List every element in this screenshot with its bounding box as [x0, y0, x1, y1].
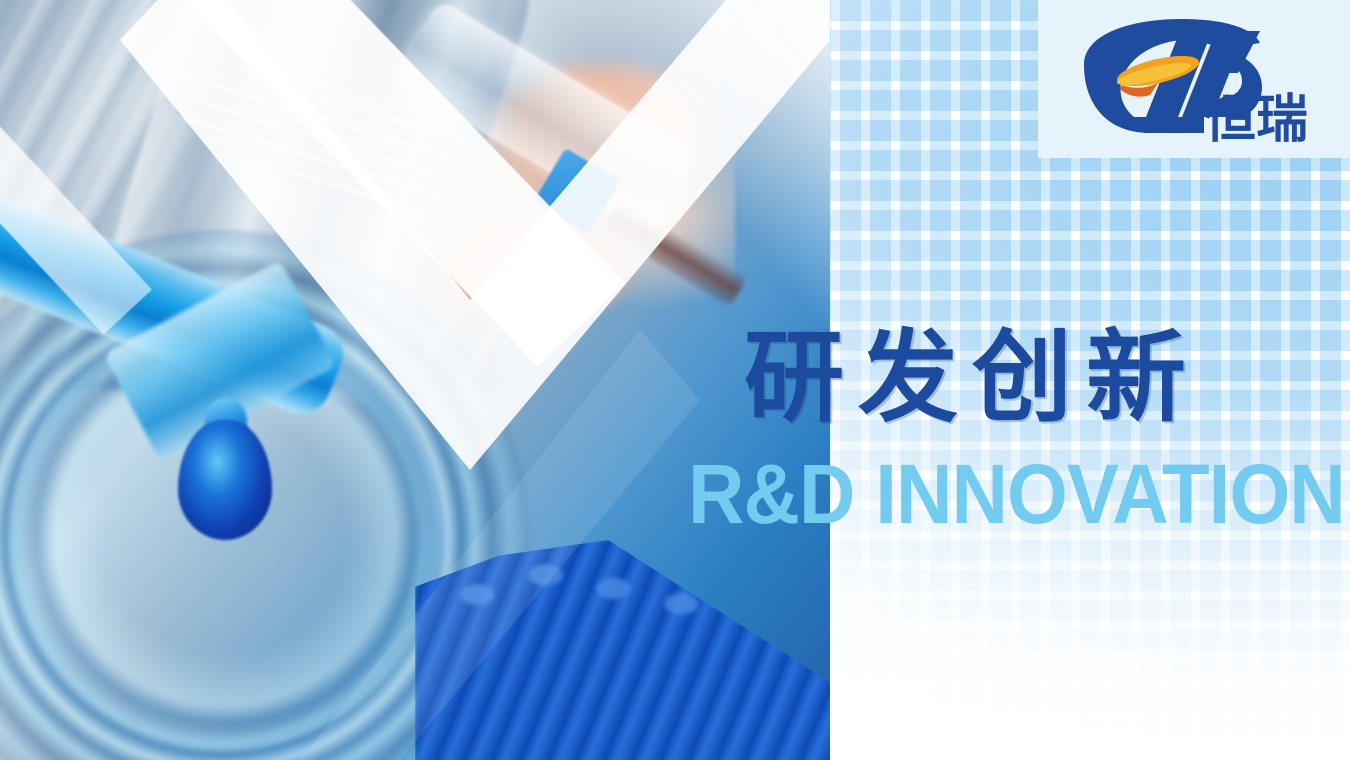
lab-photo-montage [0, 0, 830, 760]
headline-chinese: 研发创新 [744, 324, 1344, 432]
blue-liquid-droplet [178, 420, 272, 540]
hengrui-logo-box: 恒瑞 [1038, 0, 1350, 158]
headline-english: R&D INNOVATION [688, 452, 1320, 536]
rd-innovation-banner: 恒瑞 研发创新 R&D INNOVATION [0, 0, 1350, 760]
hengrui-logo-icon: 恒瑞 [1054, 13, 1334, 145]
logo-brand-cn: 恒瑞 [1204, 90, 1308, 145]
